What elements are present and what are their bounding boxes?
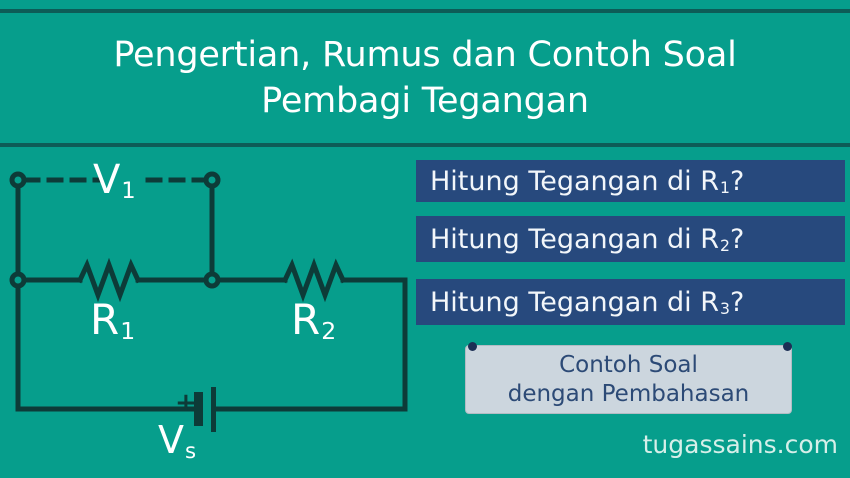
node-v1-left [12, 174, 24, 186]
callout-line-1: Contoh Soal [559, 351, 698, 380]
label-battery-polarity: + [175, 390, 197, 416]
callout-handle-right-icon [783, 342, 792, 351]
label-r1: R1 [90, 299, 135, 341]
callout-line-2: dengan Pembahasan [508, 380, 750, 409]
callout-handle-left-icon [468, 342, 477, 351]
label-r2: R2 [291, 299, 336, 341]
resistor-r2 [285, 265, 343, 295]
question-banner-3[interactable]: Hitung Tegangan di R3? [416, 279, 845, 325]
top-divider-rule [0, 9, 850, 13]
node-junction [206, 274, 218, 286]
battery-negative-plate [211, 387, 216, 432]
circuit-diagram: V1 R1 R2 Vs + [0, 147, 415, 478]
page-title: Pengertian, Rumus dan Contoh Soal Pembag… [0, 14, 850, 142]
node-rail-left [12, 274, 24, 286]
title-line-2: Pembagi Tegangan [261, 78, 589, 124]
circuit-svg [0, 147, 415, 478]
label-v1: V1 [93, 160, 136, 200]
contoh-soal-callout[interactable]: Contoh Soal dengan Pembahasan [465, 345, 792, 414]
resistor-r1 [80, 265, 138, 295]
title-line-1: Pengertian, Rumus dan Contoh Soal [113, 32, 736, 78]
question-banner-2-text: Hitung Tegangan di R2? [430, 226, 744, 253]
poster-canvas: Pengertian, Rumus dan Contoh Soal Pembag… [0, 0, 850, 478]
question-banner-1-text: Hitung Tegangan di R1? [430, 168, 744, 195]
question-banner-2[interactable]: Hitung Tegangan di R2? [416, 216, 845, 262]
battery-symbol [194, 387, 216, 432]
site-watermark: tugassains.com [0, 432, 838, 457]
question-banner-3-text: Hitung Tegangan di R3? [430, 289, 744, 316]
question-banner-1[interactable]: Hitung Tegangan di R1? [416, 160, 845, 202]
node-v1-right [206, 174, 218, 186]
